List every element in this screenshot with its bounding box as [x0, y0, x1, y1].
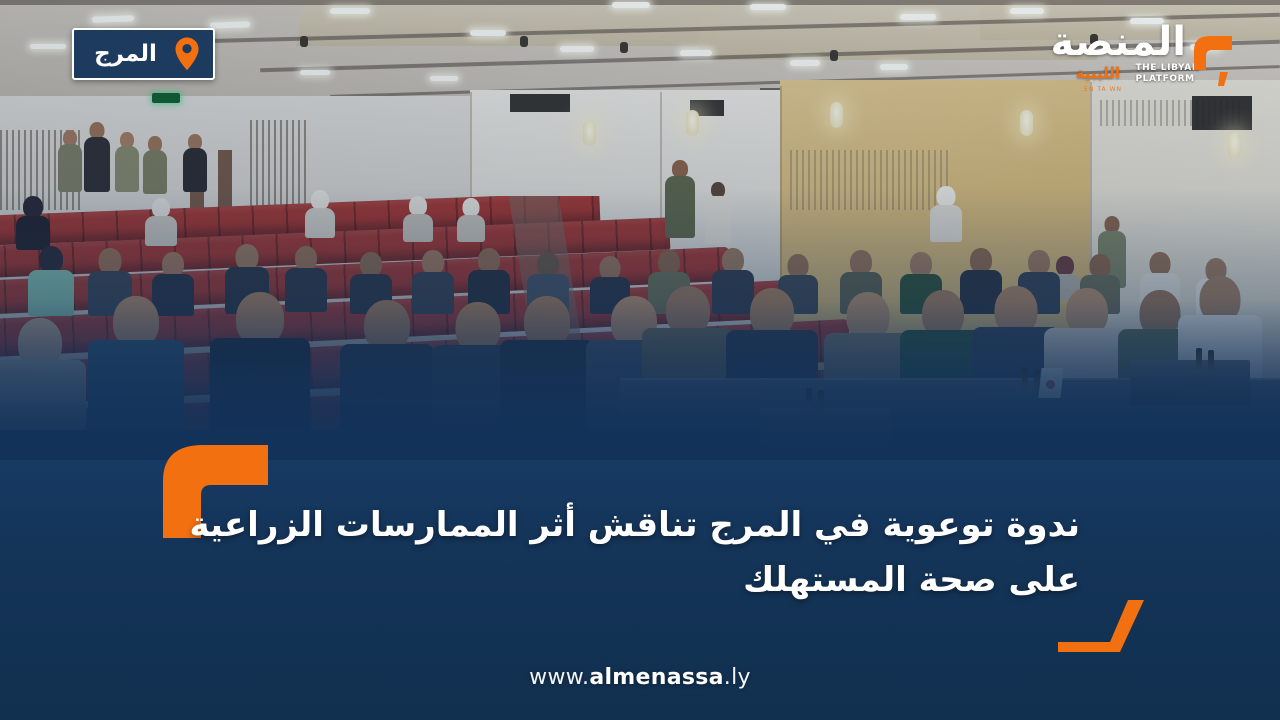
person — [115, 132, 139, 192]
logo-micro-text: EN TA WN — [1084, 86, 1122, 93]
person — [28, 246, 74, 316]
ceiling-light — [900, 14, 936, 20]
spotlight — [830, 50, 838, 61]
website-url-name: almenassa — [589, 665, 723, 690]
ceiling-light — [880, 64, 908, 70]
person — [340, 300, 434, 440]
spotlight — [300, 36, 308, 47]
logo-wordmark-arabic: المنصة — [1050, 22, 1186, 62]
person — [145, 198, 177, 246]
person — [500, 296, 594, 440]
person — [403, 196, 433, 242]
water-bottle — [1208, 350, 1214, 372]
water-bottle — [806, 388, 812, 410]
spotlight — [620, 42, 628, 53]
ceiling-light — [300, 70, 330, 75]
location-badge[interactable]: المرج — [72, 28, 215, 80]
person — [705, 182, 731, 244]
ceiling-light — [470, 30, 506, 36]
person — [0, 318, 86, 438]
ceiling-light — [612, 2, 650, 8]
wall-sconce — [1020, 110, 1033, 136]
brand-logo[interactable]: المنصة الليبية THE LIBYAN PLATFORM EN TA… — [1040, 14, 1240, 106]
person — [143, 136, 167, 194]
wall-monitor — [510, 94, 570, 112]
person — [305, 190, 335, 238]
person — [930, 186, 962, 242]
person — [58, 130, 82, 192]
location-badge-label: المرج — [82, 43, 173, 66]
ceiling-light — [330, 8, 370, 14]
person — [183, 134, 207, 192]
wall-sconce — [583, 120, 596, 146]
ceiling-light — [680, 50, 712, 56]
news-card: المرج المنصة الليبية THE LIBYAN PLATFORM… — [0, 0, 1280, 720]
side-table — [1130, 360, 1250, 406]
headline: ندوة توعوية في المرج تناقش أثر الممارسات… — [0, 498, 1280, 608]
wall-sconce — [830, 102, 843, 128]
logo-subtitle-arabic: الليبية — [1076, 66, 1120, 81]
person — [210, 292, 310, 440]
website-url[interactable]: www.almenassa.ly — [0, 665, 1280, 690]
headline-line-1: ندوة توعوية في المرج تناقش أثر الممارسات… — [150, 498, 1080, 553]
location-pin-icon — [173, 36, 201, 72]
ceiling-light — [1010, 8, 1044, 14]
spotlight — [520, 36, 528, 47]
ceiling-light — [750, 4, 786, 10]
ceiling-light — [30, 44, 66, 49]
water-bottle — [818, 390, 824, 412]
water-bottle — [1022, 368, 1028, 390]
ceiling-light — [430, 76, 458, 81]
table-flag-emblem — [1046, 380, 1055, 389]
wall-sconce — [1228, 132, 1241, 158]
person — [16, 196, 50, 250]
website-url-tld: .ly — [724, 665, 751, 690]
ceiling-light — [560, 46, 594, 52]
ceiling-light — [790, 60, 820, 66]
headline-line-2: على صحة المستهلك — [150, 553, 1080, 608]
person — [88, 296, 184, 440]
person — [84, 122, 110, 192]
wall-sconce — [686, 110, 699, 136]
person — [665, 160, 695, 238]
side-table — [760, 408, 890, 462]
logo-hook-mark-icon — [1186, 28, 1242, 90]
water-bottle — [1196, 348, 1202, 370]
website-url-prefix: www. — [529, 665, 589, 690]
exit-sign — [152, 93, 180, 103]
person — [457, 198, 485, 242]
